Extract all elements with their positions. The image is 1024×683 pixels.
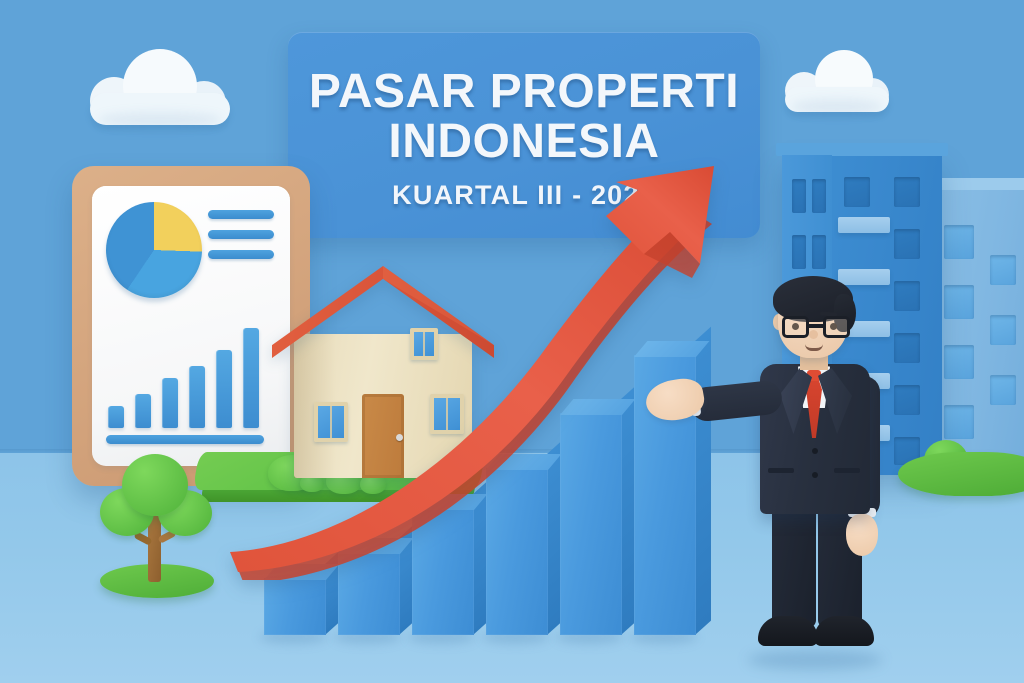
title-line-1: PASAR PROPERTI	[309, 67, 739, 117]
report-mini-bar	[189, 366, 205, 428]
person-jacket-button	[812, 472, 818, 478]
person-jacket-button	[812, 448, 818, 454]
businessman-presenter	[742, 272, 888, 664]
building-window	[792, 179, 806, 213]
building-window	[894, 385, 920, 415]
building-window	[990, 375, 1016, 405]
cloud-icon-left	[90, 55, 230, 125]
bar-front-face	[338, 552, 400, 635]
building-grass-patch	[898, 452, 1024, 496]
scene-canvas: PASAR PROPERTI INDONESIA KUARTAL III - 2…	[0, 0, 1024, 683]
person-nose	[809, 330, 818, 339]
building-window	[894, 229, 920, 259]
bar-front-face	[486, 468, 548, 635]
building-window	[812, 179, 826, 213]
house-roof	[272, 266, 494, 358]
person-shoe-right	[814, 616, 874, 646]
house-3d	[272, 266, 494, 478]
report-text-line	[208, 210, 274, 219]
person-jacket-pocket	[768, 468, 794, 473]
cloud-lobe	[123, 49, 197, 123]
title-banner: PASAR PROPERTI INDONESIA KUARTAL III - 2…	[288, 32, 760, 238]
report-text-line	[208, 230, 274, 239]
bar-front-face	[560, 413, 622, 635]
building-window	[944, 285, 974, 319]
glasses-lens-right	[823, 316, 850, 338]
house-roof-front	[272, 266, 494, 358]
bar-column-4	[486, 468, 548, 635]
report-mini-bar	[216, 350, 232, 428]
person-leg-left	[772, 506, 816, 628]
report-axis-line	[106, 435, 264, 444]
building-window	[944, 345, 974, 379]
bar-column-1	[264, 578, 326, 635]
person-shoe-left	[758, 616, 818, 646]
person-shadow	[748, 650, 882, 670]
report-paper	[92, 186, 290, 466]
tree-3d	[96, 452, 218, 600]
door-knob-icon	[396, 434, 403, 441]
glasses-bridge	[809, 324, 823, 328]
tree-trunk	[148, 516, 161, 582]
building-window	[944, 405, 974, 439]
building-window	[944, 225, 974, 259]
tree-foliage	[122, 454, 188, 516]
house-roof-right	[272, 266, 494, 358]
building-window	[990, 315, 1016, 345]
bar-column-3	[412, 508, 474, 635]
report-mini-bar	[108, 406, 124, 428]
bar-side-face	[695, 327, 711, 635]
report-text-line	[208, 250, 274, 259]
pie-chart-icon	[106, 202, 202, 298]
title-line-2: INDONESIA	[388, 117, 659, 167]
building-window	[812, 235, 826, 269]
building-window	[990, 255, 1016, 285]
bar-front-face	[412, 508, 474, 635]
house-window-right	[430, 394, 464, 434]
building-window	[844, 177, 870, 207]
cloud-base	[785, 87, 889, 112]
glasses-lens-left	[782, 316, 809, 338]
building-window	[894, 333, 920, 363]
house-window-left	[314, 402, 348, 442]
report-mini-bar	[162, 378, 178, 428]
cloud-icon-right	[785, 58, 889, 112]
cloud-base	[90, 93, 230, 125]
person-jacket-pocket	[834, 468, 860, 473]
bar-column-5	[560, 413, 622, 635]
building-window	[894, 177, 920, 207]
house-window-attic	[410, 328, 438, 360]
bar-front-face	[264, 578, 326, 635]
building-window	[792, 235, 806, 269]
title-subtitle: KUARTAL III - 2025	[392, 180, 656, 211]
bar-column-2	[338, 552, 400, 635]
person-hand-right	[846, 514, 878, 556]
building-window	[894, 281, 920, 311]
report-mini-bar	[135, 394, 151, 428]
report-mini-bar	[243, 328, 259, 428]
apartment-building-back	[928, 189, 1024, 474]
building-balcony	[838, 217, 890, 233]
